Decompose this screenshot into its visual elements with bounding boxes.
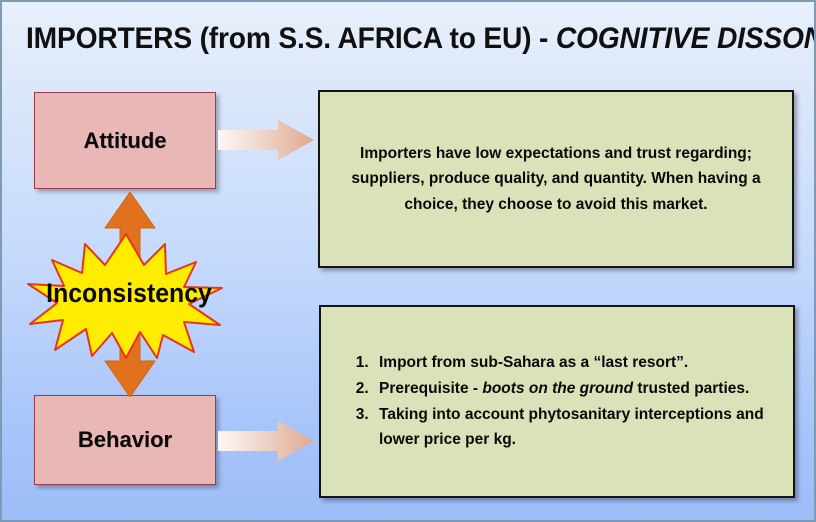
node-behavior[interactable]: Behavior — [34, 395, 216, 485]
behavior-detail-item: Taking into account phytosanitary interc… — [373, 402, 775, 452]
behavior-detail-item: Prerequisite - boots on the ground trust… — [373, 376, 775, 401]
page-title-emphasis: COGNITIVE DISSONANCE — [556, 22, 816, 55]
behavior-detail-item-pre: Taking into account phytosanitary interc… — [379, 406, 764, 448]
behavior-detail-item-emphasis: boots on the ground — [482, 380, 633, 397]
panel-attitude-detail: Importers have low expectations and trus… — [318, 90, 794, 268]
panel-behavior-detail: Import from sub-Sahara as a “last resort… — [319, 305, 795, 498]
behavior-detail-item-pre: Import from sub-Sahara as a “last resort… — [379, 354, 688, 371]
behavior-detail-item: Import from sub-Sahara as a “last resort… — [373, 350, 775, 375]
slide-canvas: IMPORTERS (from S.S. AFRICA to EU) - COG… — [0, 0, 816, 522]
panel-attitude-detail-text: Importers have low expectations and trus… — [350, 141, 762, 216]
behavior-detail-item-pre: Prerequisite - — [379, 380, 482, 397]
page-title-main: IMPORTERS (from S.S. AFRICA to EU) - — [26, 22, 556, 55]
behavior-detail-list: Import from sub-Sahara as a “last resort… — [347, 350, 775, 453]
behavior-detail-item-post: trusted parties. — [633, 380, 749, 397]
page-title: IMPORTERS (from S.S. AFRICA to EU) - COG… — [26, 20, 750, 58]
right-arrow-icon-behavior — [218, 419, 314, 463]
starburst-icon — [26, 232, 226, 360]
node-behavior-label: Behavior — [78, 427, 172, 453]
node-attitude-label: Attitude — [83, 128, 166, 154]
right-arrow-icon-attitude — [218, 118, 314, 162]
node-attitude[interactable]: Attitude — [34, 92, 216, 189]
